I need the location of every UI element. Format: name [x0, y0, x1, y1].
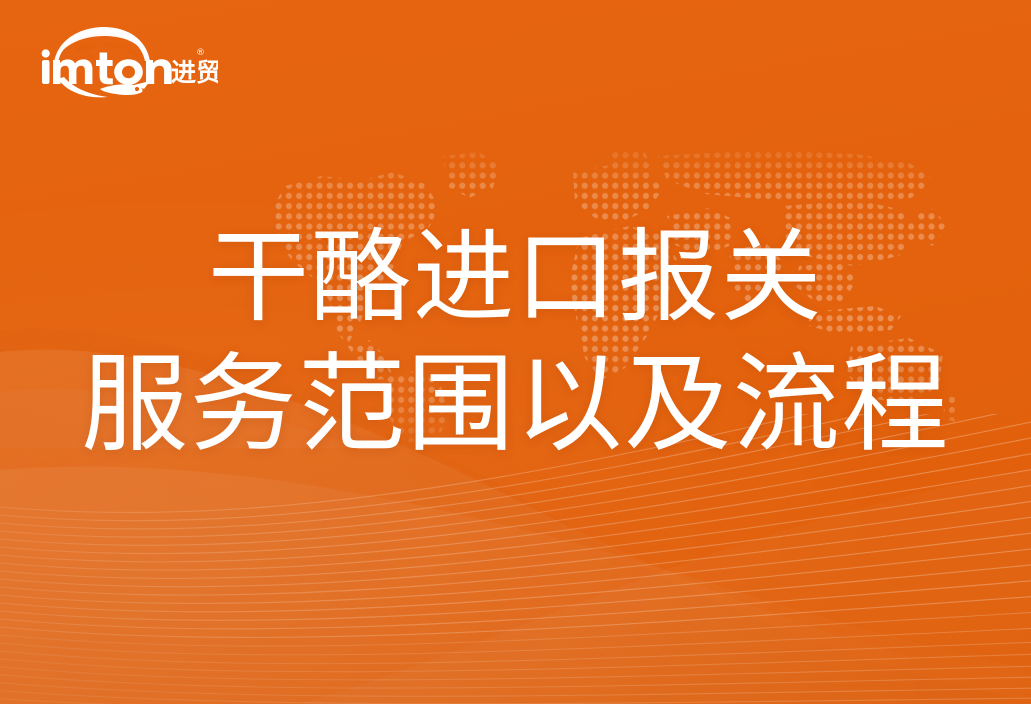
promo-banner: 进贸通 ® 干酪进口报关 服务范围以及流程: [0, 0, 1031, 704]
page-title: 干酪进口报关 服务范围以及流程: [0, 228, 1031, 460]
registered-trademark-icon: ®: [196, 48, 205, 58]
logo-chinese-text: 进贸通: [171, 58, 218, 87]
title-line-2: 服务范围以及流程: [0, 353, 1031, 460]
title-line-1: 干酪进口报关: [0, 228, 1031, 329]
imton-logo[interactable]: 进贸通 ®: [38, 27, 218, 99]
